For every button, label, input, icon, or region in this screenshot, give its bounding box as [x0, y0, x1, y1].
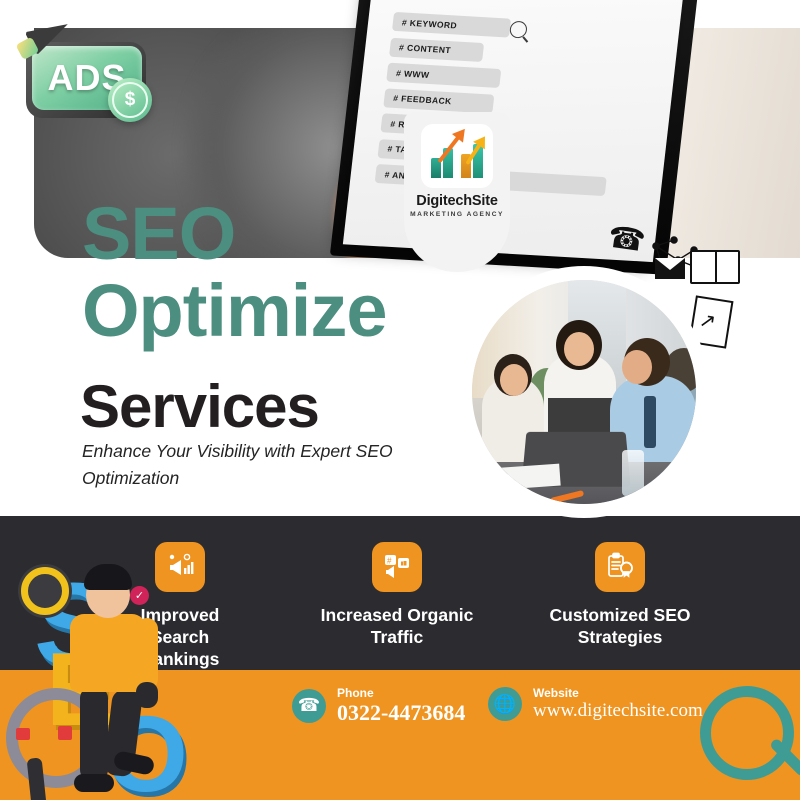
phone-handset-icon: ☎ — [606, 220, 648, 260]
seo-character-illustration: S E O — [0, 540, 186, 800]
globe-icon: 🌐 — [488, 687, 522, 721]
envelope-icon — [655, 258, 685, 279]
magnifier-icon — [509, 21, 528, 39]
brand-name: DigitechSite — [416, 193, 497, 209]
website-label: Website — [533, 686, 703, 700]
keyword-chip[interactable]: # CONTENT — [389, 37, 484, 61]
phone-label: Phone — [337, 686, 465, 700]
clipboard-badge-icon — [595, 542, 645, 592]
brand-tagline: MARKETING AGENCY — [410, 211, 504, 218]
magnifier-accent — [58, 726, 72, 740]
magnifier-icon — [700, 686, 794, 780]
website-contact[interactable]: 🌐 Website www.digitechsite.com — [488, 686, 703, 722]
hashtag-thumbsup-icon: # — [372, 542, 422, 592]
feature-label: Customized SEO Strategies — [542, 605, 698, 649]
feature-item[interactable]: # Increased Organic Traffic — [318, 542, 476, 649]
keyword-chip[interactable]: # WWW — [386, 63, 501, 88]
hero-tagline: Enhance Your Visibility with Expert SEO … — [82, 438, 412, 492]
phone-icon: ☎ — [292, 689, 326, 723]
open-book-icon — [690, 250, 740, 284]
gear-icon — [18, 564, 72, 618]
svg-text:#: # — [387, 557, 392, 566]
website-value: www.digitechsite.com — [533, 700, 703, 722]
feature-item[interactable]: Customized SEO Strategies — [542, 542, 698, 649]
headline-line-1: SEO — [82, 192, 235, 275]
seo-services-poster: # KEYWORD # CONTENT # WWW # FEEDBACK # R… — [0, 0, 800, 800]
keyword-chip[interactable]: # FEEDBACK — [383, 88, 494, 113]
team-photo — [472, 280, 696, 504]
page-title: SEO Optimize — [82, 198, 386, 346]
dollar-coin-icon: $ — [108, 78, 152, 122]
headline-line-2: Optimize — [82, 275, 386, 346]
brand-logo[interactable]: DigitechSite MARKETING AGENCY — [404, 112, 510, 272]
bar-chart-arrow-logo — [421, 124, 493, 188]
feature-label: Increased Organic Traffic — [318, 605, 476, 649]
headline-line-3: Services — [80, 372, 319, 441]
phone-contact[interactable]: ☎ Phone 0322-4473684 — [292, 686, 465, 726]
magnifier-accent — [16, 728, 30, 740]
status-badge: ✓ — [130, 586, 149, 605]
ads-badge: ADS $ — [12, 16, 162, 128]
phone-value: 0322-4473684 — [337, 700, 465, 725]
dollar-symbol: $ — [112, 82, 148, 118]
